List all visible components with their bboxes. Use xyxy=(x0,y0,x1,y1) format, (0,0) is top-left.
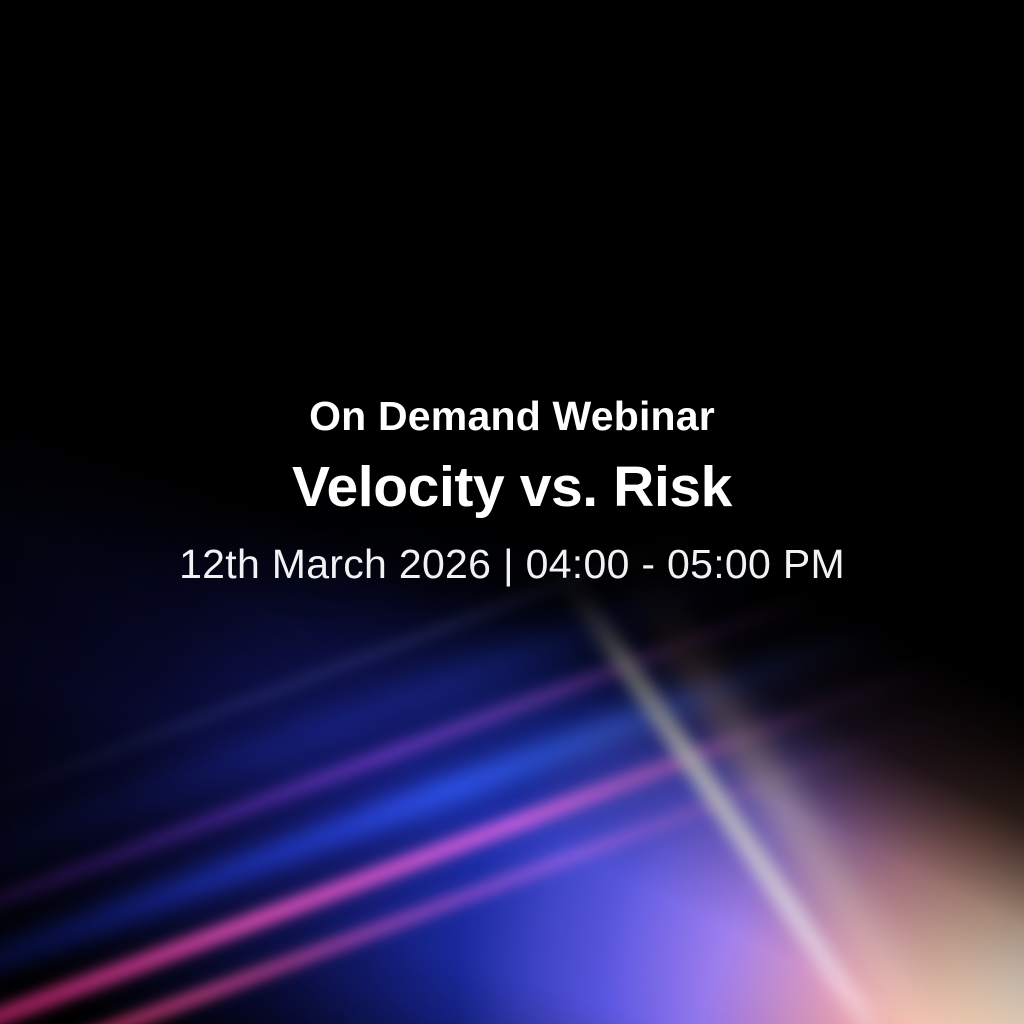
page-title: Velocity vs. Risk xyxy=(0,459,1024,516)
webinar-promo-card: On Demand Webinar Velocity vs. Risk 12th… xyxy=(0,0,1024,1024)
eyebrow-label: On Demand Webinar xyxy=(0,396,1024,437)
promo-text-block: On Demand Webinar Velocity vs. Risk 12th… xyxy=(0,396,1024,585)
datetime-label: 12th March 2026 | 04:00 - 05:00 PM xyxy=(0,544,1024,585)
